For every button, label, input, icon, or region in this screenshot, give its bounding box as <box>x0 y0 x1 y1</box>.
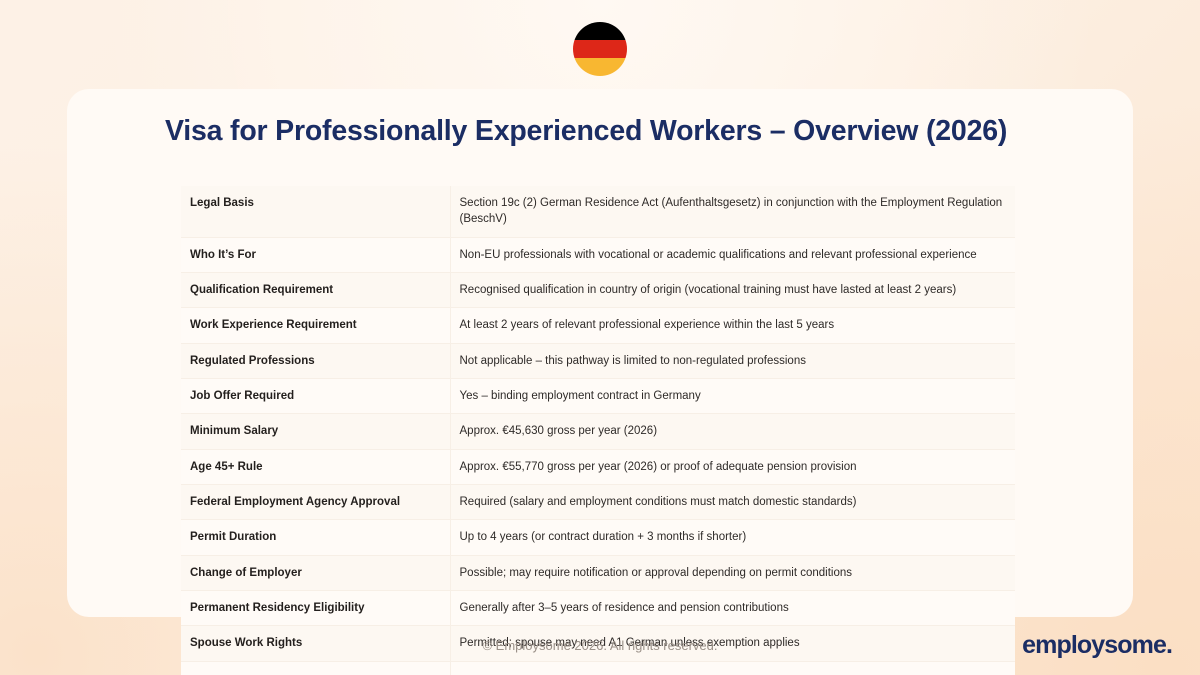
table-row: Qualification RequirementRecognised qual… <box>181 272 1015 307</box>
row-label: Who It’s For <box>181 237 450 272</box>
row-label: Work Experience Requirement <box>181 308 450 343</box>
row-label: Minimum Salary <box>181 414 450 449</box>
germany-flag-icon <box>573 22 627 76</box>
table-row: Work Experience RequirementAt least 2 ye… <box>181 308 1015 343</box>
table-row: Regulated ProfessionsNot applicable – th… <box>181 343 1015 378</box>
flag-stripe-gold <box>573 58 627 76</box>
row-value: Required (salary and employment conditio… <box>450 484 1015 519</box>
visa-overview-table: Legal BasisSection 19c (2) German Reside… <box>181 186 1015 675</box>
row-value: Not applicable – this pathway is limited… <box>450 343 1015 378</box>
row-value: Possible; may require notification or ap… <box>450 555 1015 590</box>
row-label: Permit Duration <box>181 520 450 555</box>
table-row: Federal Employment Agency ApprovalRequir… <box>181 484 1015 519</box>
row-value: At least 2 years of relevant professiona… <box>450 308 1015 343</box>
row-value: Approx. €55,770 gross per year (2026) or… <box>450 449 1015 484</box>
overview-card: Visa for Professionally Experienced Work… <box>67 89 1133 617</box>
row-value: Approx. €45,630 gross per year (2026) <box>450 414 1015 449</box>
employsome-logo: employsome. <box>1022 631 1172 660</box>
table-row: Permanent Residency EligibilityGenerally… <box>181 590 1015 625</box>
table-row: Minimum SalaryApprox. €45,630 gross per … <box>181 414 1015 449</box>
row-label: Legal Basis <box>181 186 450 237</box>
table-row: Legal BasisSection 19c (2) German Reside… <box>181 186 1015 237</box>
row-label: Change of Employer <box>181 555 450 590</box>
table-row: Permit DurationUp to 4 years (or contrac… <box>181 520 1015 555</box>
row-label: Qualification Requirement <box>181 272 450 307</box>
row-value: Recognised qualification in country of o… <box>450 272 1015 307</box>
page-title: Visa for Professionally Experienced Work… <box>165 115 1007 148</box>
table-row: Job Offer RequiredYes – binding employme… <box>181 378 1015 413</box>
row-value: Generally after 3–5 years of residence a… <box>450 590 1015 625</box>
row-value: Section 19c (2) German Residence Act (Au… <box>450 186 1015 237</box>
table-row: Age 45+ RuleApprox. €55,770 gross per ye… <box>181 449 1015 484</box>
row-label: Job Offer Required <box>181 378 450 413</box>
spacer-cell-right <box>450 661 1015 675</box>
row-value: Yes – binding employment contract in Ger… <box>450 378 1015 413</box>
row-label: Federal Employment Agency Approval <box>181 484 450 519</box>
spacer-cell-left <box>181 661 450 675</box>
table-bottom-spacer <box>181 661 1015 675</box>
table-row: Who It’s ForNon-EU professionals with vo… <box>181 237 1015 272</box>
row-label: Permanent Residency Eligibility <box>181 590 450 625</box>
table-row: Change of EmployerPossible; may require … <box>181 555 1015 590</box>
row-label: Age 45+ Rule <box>181 449 450 484</box>
footer-copyright: © Employsome 2026. All rights reserved. <box>0 638 1200 653</box>
row-value: Up to 4 years (or contract duration + 3 … <box>450 520 1015 555</box>
row-label: Regulated Professions <box>181 343 450 378</box>
flag-stripe-red <box>573 40 627 58</box>
flag-stripe-black <box>573 22 627 40</box>
flag-badge-container <box>0 22 1200 76</box>
table-body: Legal BasisSection 19c (2) German Reside… <box>181 186 1015 675</box>
row-value: Non-EU professionals with vocational or … <box>450 237 1015 272</box>
